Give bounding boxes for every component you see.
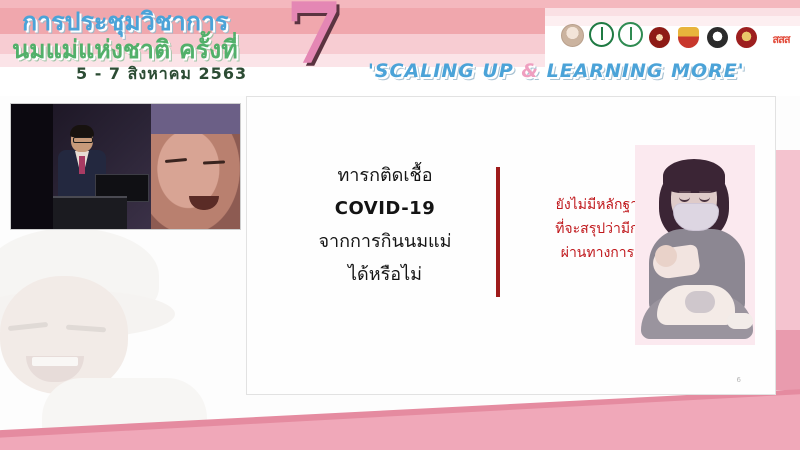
conference-dates: 5 - 7 สิงหาคม 2563 — [76, 62, 247, 87]
thaihealth-logo: สสส — [763, 20, 799, 48]
screenshot-root: 7 การประชุมวิชาการ นมแม่แห่งชาติ ครั้งที… — [0, 0, 800, 450]
mother-brow-right — [699, 191, 711, 193]
royal-seal-icon — [561, 24, 584, 47]
slide-number: 6 — [737, 376, 741, 384]
royal-crest-logo — [676, 20, 701, 48]
mother-hand — [685, 291, 715, 313]
ministry-public-health-logo — [589, 20, 614, 48]
vertical-divider — [496, 167, 500, 297]
baby-eye-right — [203, 160, 225, 164]
podium — [53, 196, 127, 230]
health-department-icon — [618, 22, 643, 47]
royal-crest-icon — [678, 27, 699, 48]
presentation-video-thumbnail[interactable] — [10, 103, 241, 230]
slide-question-block: ทารกติดเชื้อ COVID-19 จากการกินนมแม่ ได้… — [289, 159, 481, 291]
speaker-hair — [70, 125, 94, 137]
baby-photo-overlay — [151, 104, 240, 229]
royal-seal-logo — [560, 20, 585, 48]
national-crest-logo — [734, 20, 759, 48]
health-department-logo — [618, 20, 643, 48]
tagline-part-2: LEARNING MORE' — [539, 60, 745, 82]
speaker-tie — [79, 156, 85, 174]
right-pink-edge-lower — [774, 330, 800, 390]
mother-foot — [727, 313, 753, 329]
baby-eye-left — [165, 158, 187, 163]
speaker-glasses-icon — [73, 137, 93, 143]
conference-header: 7 การประชุมวิชาการ นมแม่แห่งชาติ ครั้งที… — [0, 0, 800, 96]
tagline-part-1: 'SCALING UP — [368, 60, 521, 82]
garuda-seal-icon — [707, 27, 728, 48]
baby-mouth — [189, 196, 219, 210]
mother-hair-top — [663, 159, 725, 193]
garuda-seal-logo — [705, 20, 730, 48]
question-line: จากการกินนมแม่ — [289, 225, 481, 258]
national-crest-icon — [736, 27, 757, 48]
background-child-watermark — [0, 228, 252, 418]
slide-panel: ทารกติดเชื้อ COVID-19 จากการกินนมแม่ ได้… — [246, 96, 776, 395]
question-line: ทารกติดเชื้อ — [289, 159, 481, 192]
ministry-public-health-icon — [589, 22, 614, 47]
breastfeeding-illustration — [635, 145, 755, 345]
sponsor-logo-row: สสส — [560, 20, 799, 48]
edition-number: 7 — [285, 0, 343, 76]
baby-head — [655, 245, 677, 267]
mother-brow-left — [679, 191, 691, 193]
thai-emblem-icon — [649, 27, 670, 48]
question-line: ได้หรือไม่ — [289, 258, 481, 291]
watermark-teeth — [32, 357, 78, 366]
thai-emblem-logo — [647, 20, 672, 48]
video-dark-curtain — [11, 104, 53, 229]
question-line: COVID-19 — [289, 192, 481, 225]
tagline-ampersand: & — [521, 60, 539, 82]
thaihealth-icon: สสส — [764, 31, 798, 48]
conference-tagline: 'SCALING UP & LEARNING MORE' — [368, 60, 745, 82]
